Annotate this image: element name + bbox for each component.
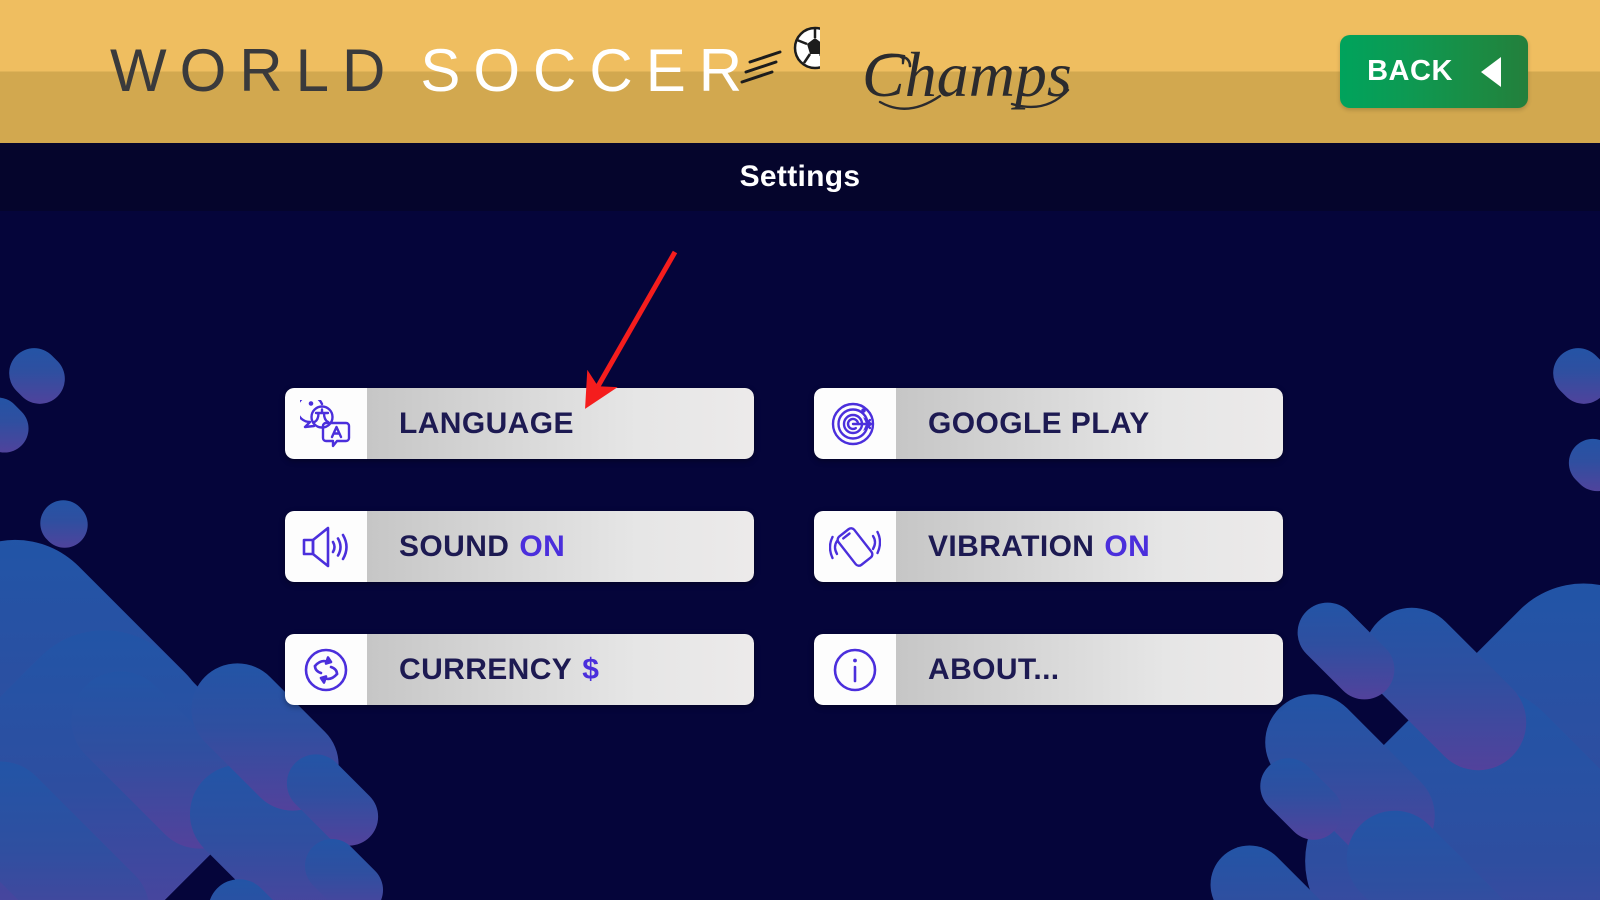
champs-text: Champs — [862, 39, 1072, 110]
menu-item-label: CURRENCY — [399, 653, 572, 687]
menu-item-currency[interactable]: CURRENCY $ — [285, 634, 754, 705]
menu-item-label: ABOUT... — [928, 653, 1060, 687]
menu-item-label: GOOGLE PLAY — [928, 407, 1150, 441]
triangle-left-icon — [1481, 57, 1501, 87]
menu-item-body: SOUND ON — [367, 511, 754, 582]
menu-item-sound[interactable]: SOUND ON — [285, 511, 754, 582]
back-button[interactable]: BACK — [1340, 35, 1528, 108]
menu-item-body: VIBRATION ON — [896, 511, 1283, 582]
menu-item-body: ABOUT... — [896, 634, 1283, 705]
menu-item-label: VIBRATION — [928, 530, 1094, 564]
app-header: WORLD SOCCER Champs BACK — [0, 0, 1600, 143]
menu-item-body: CURRENCY $ — [367, 634, 754, 705]
app-logo: WORLD SOCCER — [110, 28, 755, 114]
menu-item-about[interactable]: ABOUT... — [814, 634, 1283, 705]
speaker-icon — [285, 511, 367, 582]
logo-word-world: WORLD — [110, 41, 398, 101]
play-games-icon — [814, 388, 896, 459]
vibration-icon — [814, 511, 896, 582]
menu-item-vibration[interactable]: VIBRATION ON — [814, 511, 1283, 582]
settings-menu: LANGUAGE GOOGLE PLAY — [0, 211, 1600, 900]
menu-item-label: SOUND — [399, 530, 509, 564]
page-title: Settings — [740, 160, 861, 194]
menu-item-value: ON — [519, 530, 565, 564]
menu-item-value: $ — [582, 653, 599, 687]
menu-item-google-play[interactable]: GOOGLE PLAY — [814, 388, 1283, 459]
translate-icon — [285, 388, 367, 459]
info-icon — [814, 634, 896, 705]
menu-item-label: LANGUAGE — [399, 407, 574, 441]
menu-item-value: ON — [1104, 530, 1150, 564]
title-bar: Settings — [0, 143, 1600, 211]
exchange-icon — [285, 634, 367, 705]
menu-item-body: GOOGLE PLAY — [896, 388, 1283, 459]
back-button-label: BACK — [1367, 55, 1453, 88]
menu-item-body: LANGUAGE — [367, 388, 754, 459]
menu-item-language[interactable]: LANGUAGE — [285, 388, 754, 459]
soccer-ball-icon — [700, 10, 820, 100]
logo-script-champs: Champs — [862, 26, 1092, 126]
